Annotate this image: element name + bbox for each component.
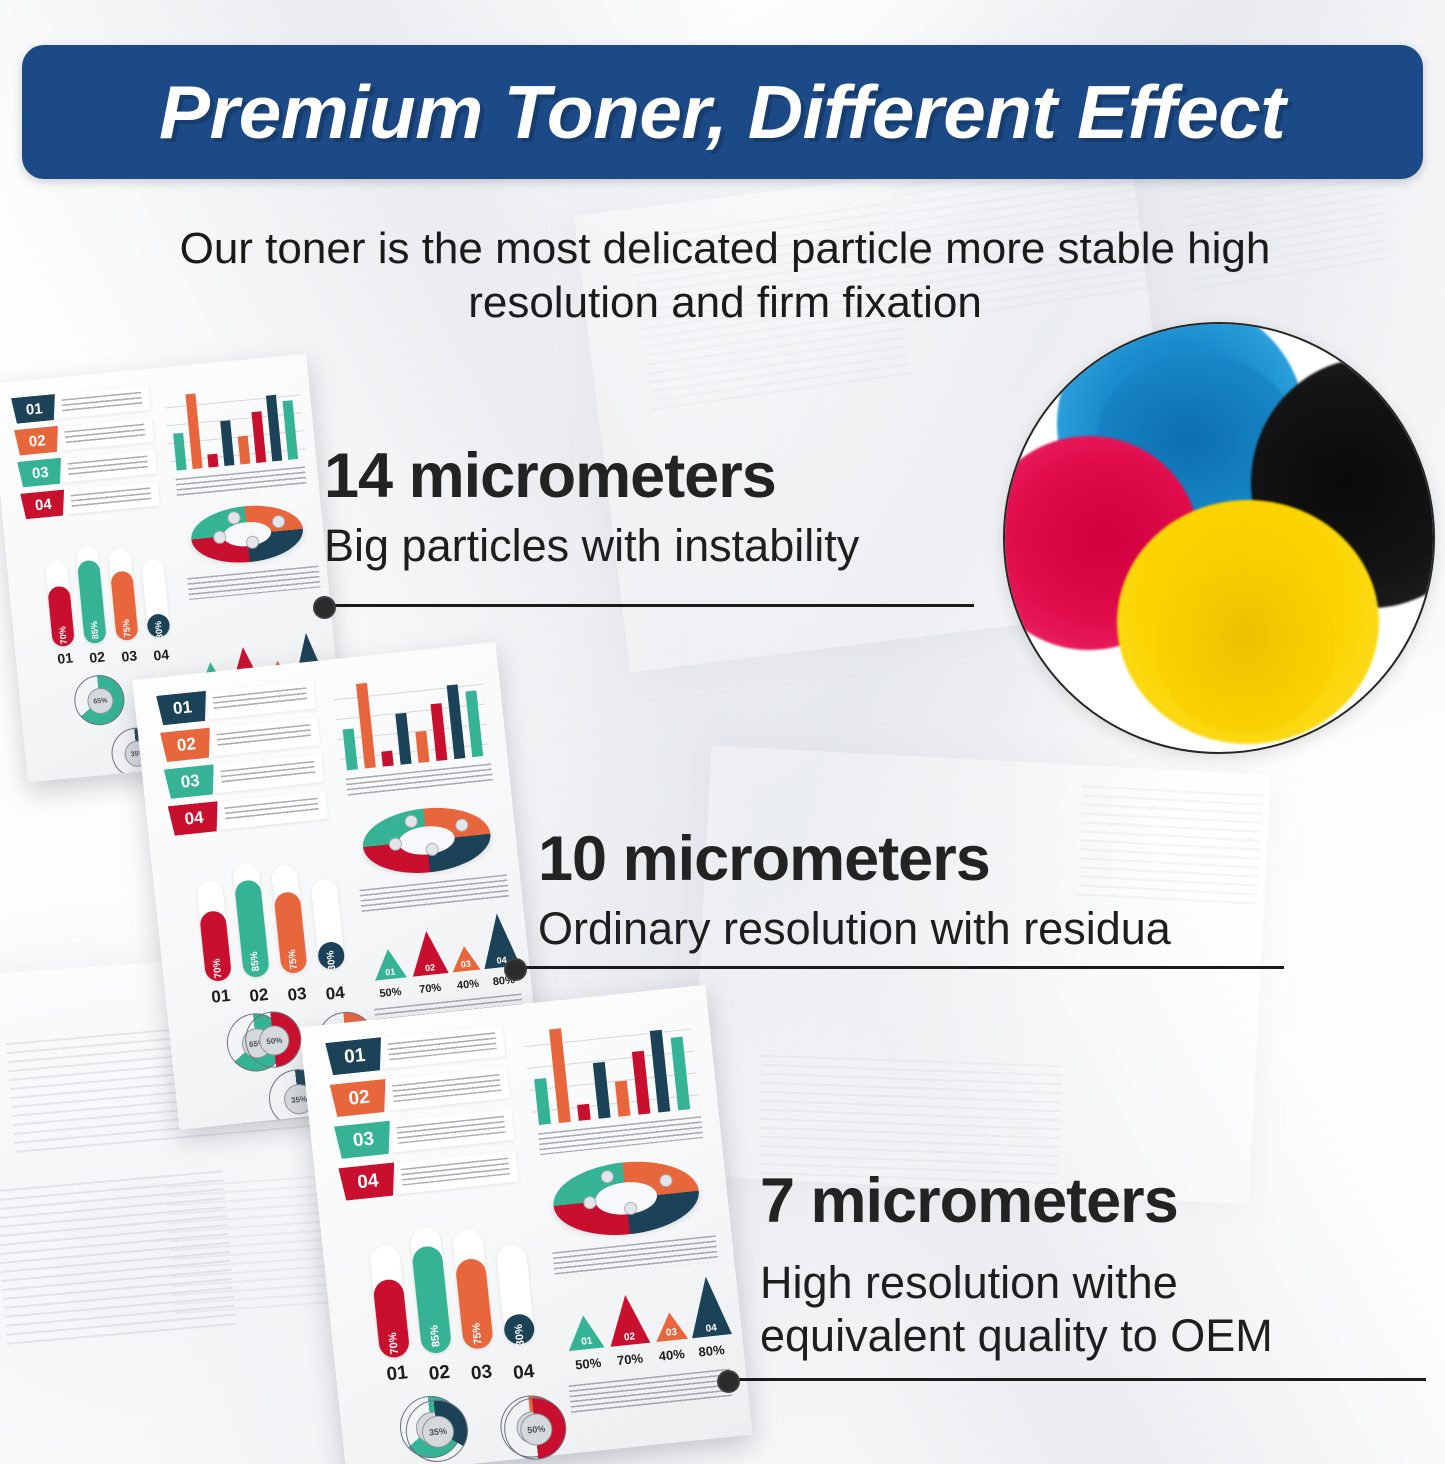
callout-14-rule-dot [313,596,336,619]
title-banner: Premium Toner, Different Effect [22,45,1423,179]
badge-03: 03 [334,1121,393,1160]
gauge-65: 65% [72,673,127,728]
yellow-powder-core [1155,554,1335,734]
column-bar [283,400,299,460]
sheet-2-gauge-group: 50% [209,943,460,1087]
column-bar [238,436,251,465]
gauge-35-label: 35% [291,1094,308,1105]
donut-chart-1 [189,501,306,567]
vbar-track-01: 70% [45,560,75,648]
column-bar [381,751,393,767]
gauge-35: 35% [403,1397,471,1464]
callout-7-heading: 7 micrometers [760,1168,1380,1234]
column-bar [671,1036,691,1110]
callout-10-rule [512,966,1284,969]
badge-01: 01 [11,394,57,424]
gauge-50: 50% [501,1395,569,1463]
donut-chart-2 [360,802,494,879]
badge-04-label: 04 [356,1170,379,1194]
vbar-fill-04: 30% [146,613,170,638]
page-title: Premium Toner, Different Effect [159,69,1285,155]
callout-10-micrometers: 10 micrometers Ordinary resolution with … [538,826,1298,955]
column-bar [395,713,411,764]
badge-01-label: 01 [172,697,193,719]
badge-03-label: 03 [31,463,49,482]
column-bar [185,393,202,469]
gauge-50: 50% [242,1009,304,1071]
column-bar [534,1078,551,1125]
cmyk-toner-powder-photo [1003,322,1435,754]
callout-10-description: Ordinary resolution with residua [538,902,1298,955]
donut-chart-1-caption [187,565,321,600]
vbar-label-02: 02 [84,648,111,666]
donut-chart-2-caption [360,874,510,913]
badge-02-label: 02 [348,1086,371,1110]
badge-03-label: 03 [180,771,201,793]
column-bar [577,1103,591,1120]
column-chart-2 [335,664,490,771]
badge-04-label: 04 [34,495,52,514]
gauge-50-label: 50% [527,1424,546,1436]
callout-7-description-line1: High resolution withe [760,1256,1380,1309]
vbar-label-01: 01 [51,649,78,667]
triangle-03-percent: 40% [653,1346,690,1365]
badge-02: 02 [14,426,60,456]
badge-01: 01 [156,691,209,726]
vbar-fill-02: 85% [77,559,107,644]
vbar-track-04: 30% [141,558,170,638]
vbar-label-03: 03 [116,647,143,665]
vbar-value-02: 85% [89,620,101,639]
callout-10-rule-dot [504,958,527,981]
callout-7-description-line2: equivalent quality to OEM [760,1309,1380,1362]
badge-04-label: 04 [184,808,205,830]
sheet-3-gauge-group: 35% 50% [373,1307,646,1464]
callout-14-heading: 14 micrometers [324,443,984,509]
product-infographic-page: Premium Toner, Different Effect Our tone… [0,0,1445,1464]
column-bar [220,420,234,466]
column-bar [593,1062,611,1119]
vbar-value-01: 70% [57,626,69,645]
badge-01-label: 01 [25,400,43,419]
gauge-35-label: 35% [428,1426,447,1438]
badge-02-label: 02 [28,432,46,451]
callout-7-rule-dot [717,1370,740,1393]
column-chart-3 [526,1007,700,1126]
callout-7-rule [726,1378,1426,1381]
column-chart-2-caption [346,763,493,798]
column-bar [632,1050,651,1114]
column-bar [650,1030,670,1112]
badge-03-label: 03 [352,1128,375,1152]
vbar-track-02: 85% [76,545,107,645]
page-subtitle: Our toner is the most delicated particle… [100,222,1350,329]
column-bar [465,690,483,757]
gauge-50-label: 50% [266,1035,283,1046]
column-bar [266,395,282,461]
badge-02: 02 [330,1079,389,1118]
triangle-04-percent: 80% [693,1341,730,1360]
callout-14-micrometers: 14 micrometers Big particles with instab… [324,443,984,572]
column-bar [447,685,466,759]
column-bar [251,411,266,463]
donut-chart-3-caption [552,1235,718,1278]
column-bar [173,433,186,471]
vbar-track-02: 85% [232,862,270,978]
vbar-fill-01: 70% [47,585,75,647]
column-bar [343,728,358,770]
donut-chart-3 [550,1155,703,1242]
callout-7-micrometers: 7 micrometers High resolution withe equi… [760,1168,1380,1362]
callout-10-heading: 10 micrometers [538,826,1298,892]
vbar-value-04: 30% [153,620,165,639]
badge-04: 04 [338,1162,397,1201]
column-chart-1 [167,377,306,471]
vbar-track-03: 75% [108,547,139,641]
callout-14-description: Big particles with instability [324,519,984,572]
badge-04: 04 [20,490,66,520]
column-bar [207,454,218,468]
column-bar [549,1028,571,1123]
gauge-65-label: 65% [93,697,108,705]
column-bar [431,703,448,761]
column-bar [415,731,429,763]
badge-03: 03 [17,458,63,488]
column-bar [356,683,376,768]
triangle-03-percent: 40% [452,977,485,992]
column-bar [615,1081,631,1117]
vbar-fill-03: 75% [110,570,139,641]
badge-04: 04 [168,801,221,836]
badge-03: 03 [164,764,217,799]
callout-14-rule [322,604,974,607]
badge-02: 02 [160,727,213,762]
badge-02-label: 02 [176,734,197,756]
column-chart-1-caption [175,466,306,496]
vbar-label-04: 04 [148,646,175,664]
vbar-value-03: 75% [121,619,133,638]
